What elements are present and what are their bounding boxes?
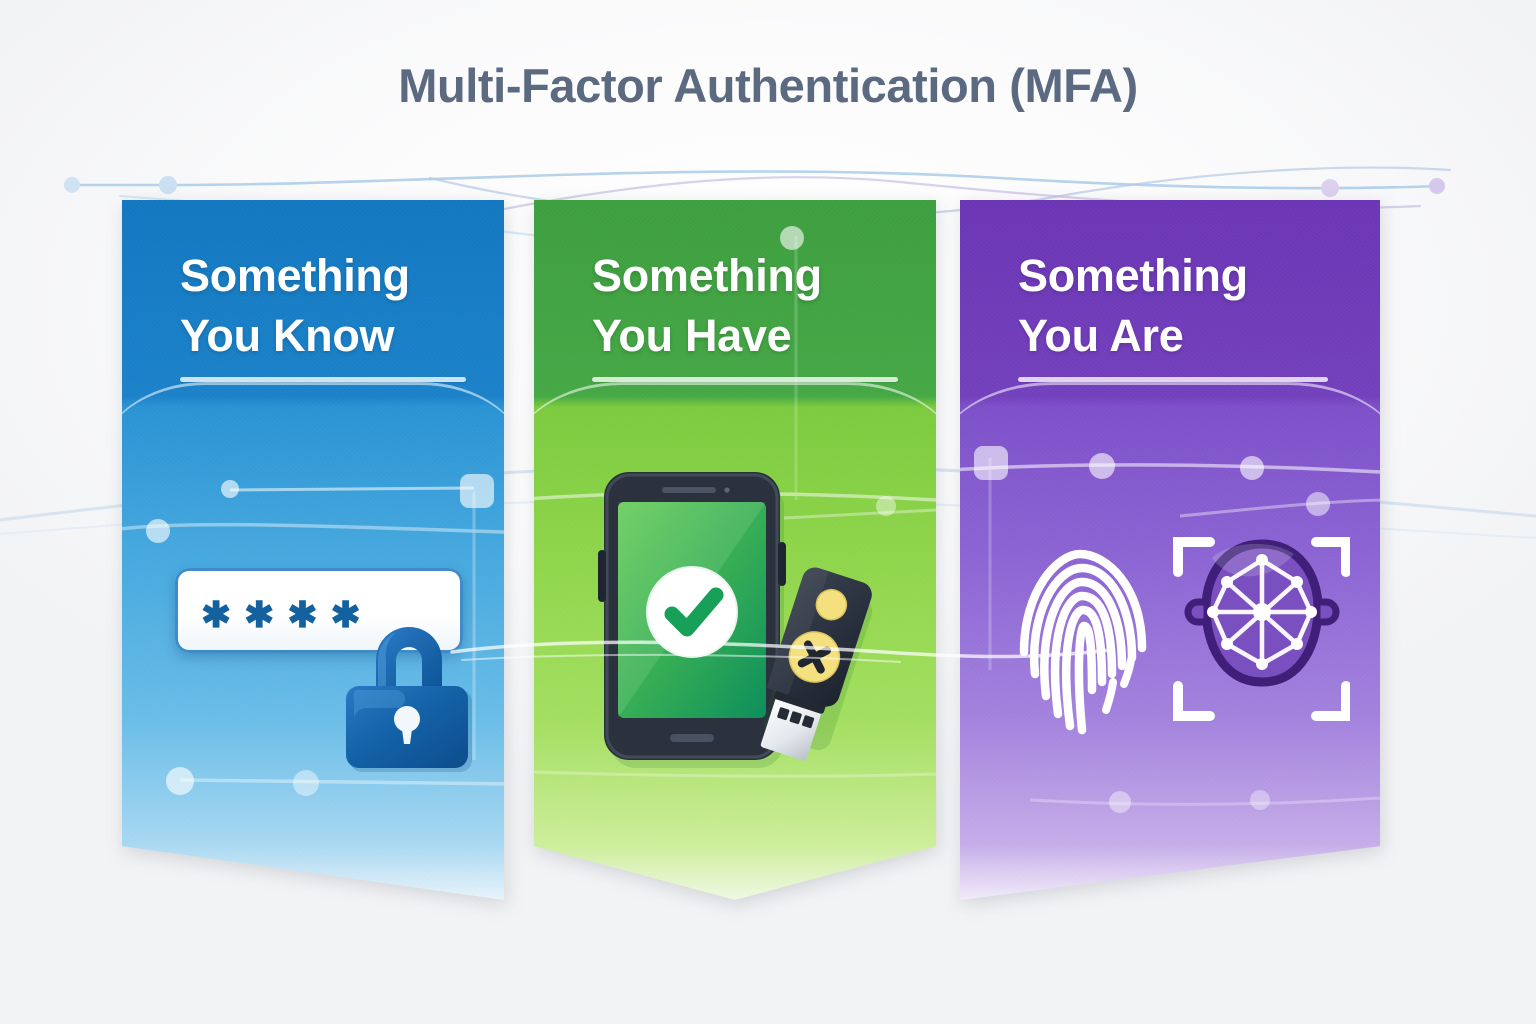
face-scan-icon <box>1178 542 1346 716</box>
panel-are-heading: Something You Are <box>960 200 1380 366</box>
panel-have-heading-line2: You Have <box>592 306 936 366</box>
icon-group-password-lock: ✱ ✱ ✱ ✱ **** <box>170 560 480 780</box>
infographic-canvas: Multi-Factor Authentication (MFA) <box>0 0 1536 1024</box>
icon-group-biometrics <box>1002 524 1350 736</box>
panel-something-you-know[interactable]: Something You Know <box>122 200 504 900</box>
panel-know-underline <box>180 377 466 382</box>
phone-and-key-illustration <box>596 460 888 810</box>
panel-are-underline <box>1018 377 1328 382</box>
panel-have-heading: Something You Have <box>534 200 936 366</box>
panel-know-heading-line1: Something <box>180 246 504 306</box>
padlock-icon <box>338 606 480 776</box>
panel-are-heading-line1: Something <box>1018 246 1380 306</box>
password-mask-char: ✱ <box>244 597 276 633</box>
biometric-illustration <box>1002 524 1350 736</box>
panel-have-heading-line1: Something <box>592 246 936 306</box>
password-mask-char: ✱ <box>201 597 233 633</box>
page-title: Multi-Factor Authentication (MFA) <box>0 58 1536 113</box>
panel-know-heading-line2: You Know <box>180 306 504 366</box>
fingerprint-icon <box>1024 554 1142 730</box>
panel-are-heading-line2: You Are <box>1018 306 1380 366</box>
panel-have-underline <box>592 377 898 382</box>
password-mask-char: ✱ <box>287 597 319 633</box>
icon-group-phone-securitykey <box>596 460 888 810</box>
panel-know-heading: Something You Know <box>122 200 504 366</box>
